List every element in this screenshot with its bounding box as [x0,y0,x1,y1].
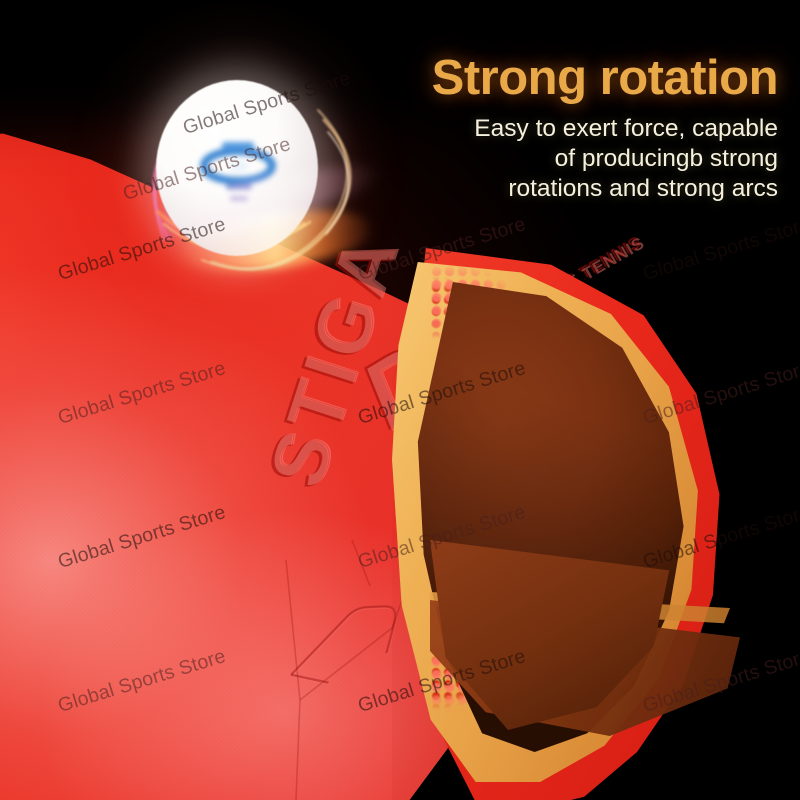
subcopy-line-1: Easy to exert force, capable [474,115,778,142]
subcopy-line-3: rotations and strong arcs [508,175,778,202]
subcopy-line-2: of producingb strong [555,145,778,172]
subcopy: Easy to exert force, capable of producin… [386,114,778,204]
product-marketing-image: STIGA SPONGE DI TABLE TENNIS [0,0,800,800]
headline: Strong rotation [386,54,778,104]
marketing-copy: Strong rotation Easy to exert force, cap… [386,54,778,204]
spinning-ball [128,62,358,292]
